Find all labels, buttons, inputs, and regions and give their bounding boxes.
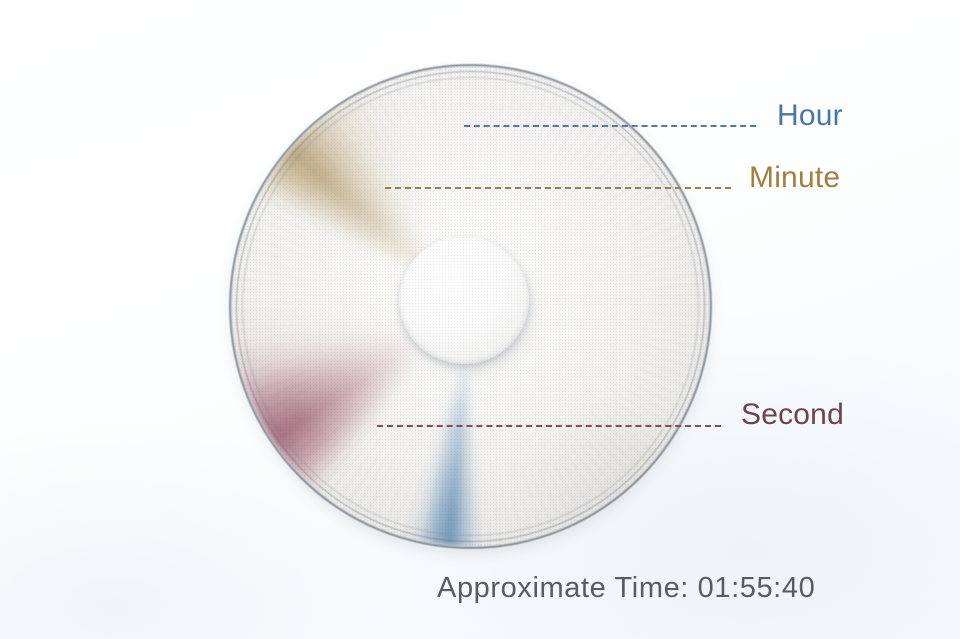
center-pivot-disc bbox=[399, 236, 529, 364]
hub-grain bbox=[399, 236, 529, 364]
minute-leader-line bbox=[385, 187, 731, 189]
minute-label: Minute bbox=[749, 161, 840, 195]
chromatography-clock-figure: Hour Minute Second Approximate Time: 01:… bbox=[0, 0, 960, 639]
second-leader-line bbox=[377, 425, 721, 427]
approximate-time-caption: Approximate Time: 01:55:40 bbox=[437, 572, 815, 605]
hour-leader-line bbox=[464, 125, 756, 127]
second-label: Second bbox=[741, 398, 844, 432]
hour-label: Hour bbox=[777, 99, 843, 133]
petri-dish bbox=[231, 66, 710, 547]
